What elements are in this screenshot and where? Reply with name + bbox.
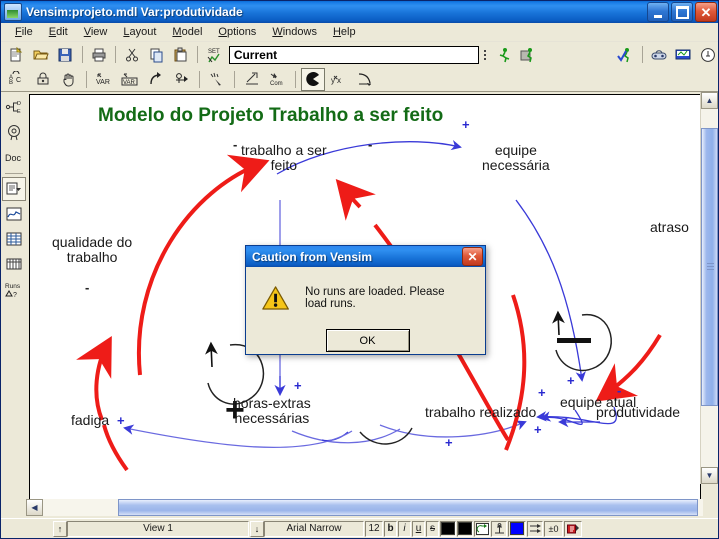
variable-icon[interactable]: VAR bbox=[92, 68, 116, 91]
view-down-button[interactable]: ↓ bbox=[250, 521, 264, 537]
main-toolbar: SET Current bbox=[1, 42, 719, 67]
node-fadiga[interactable]: fadiga bbox=[71, 413, 109, 428]
chevron-down-icon: ▼ bbox=[706, 471, 714, 480]
menu-windows[interactable]: Windows bbox=[264, 24, 325, 40]
svg-text:VAR: VAR bbox=[123, 80, 136, 86]
fill-color-swatch[interactable] bbox=[457, 521, 473, 537]
causes-strip-icon[interactable] bbox=[2, 177, 26, 201]
loops-icon[interactable] bbox=[2, 120, 26, 144]
menu-help[interactable]: Help bbox=[325, 24, 364, 40]
dialog-title: Caution from Vensim bbox=[252, 250, 372, 264]
input-output-icon[interactable] bbox=[240, 68, 264, 91]
polarity-minus-qualidade: - bbox=[85, 280, 89, 295]
polarity-plus-equipe-necessaria: + bbox=[462, 117, 470, 132]
menu-model[interactable]: Model bbox=[164, 24, 210, 40]
caution-dialog: Caution from Vensim ✕ No runs are loaded… bbox=[245, 245, 486, 355]
bold-button[interactable]: b bbox=[384, 521, 397, 537]
lock-text-icon[interactable]: A B C bbox=[5, 68, 29, 91]
toolbar-grip bbox=[483, 50, 488, 60]
arrow-icon[interactable] bbox=[144, 68, 168, 91]
status-bar: ↑ View 1 ↓ Arial Narrow 12 b i u s bbox=[1, 518, 719, 538]
svg-text:x: x bbox=[337, 76, 341, 85]
font-size-field[interactable]: 12 bbox=[365, 521, 383, 537]
polarity-plus-fadiga: + bbox=[117, 413, 125, 428]
node-produtividade[interactable]: produtividade bbox=[596, 405, 680, 420]
chevron-left-icon: ◀ bbox=[31, 503, 37, 512]
menu-bar: File Edit View Layout Model Options Wind… bbox=[1, 23, 719, 42]
table-time-down-icon[interactable] bbox=[2, 252, 26, 276]
comment-icon[interactable]: Com bbox=[266, 68, 290, 91]
reference-mode-icon[interactable] bbox=[353, 68, 377, 91]
text-color-swatch[interactable] bbox=[440, 521, 456, 537]
vertical-scrollbar[interactable]: ▲ ▼ bbox=[700, 92, 718, 484]
line-color-swatch[interactable] bbox=[508, 521, 526, 537]
toolbar-separator bbox=[642, 46, 643, 63]
close-icon: ✕ bbox=[467, 250, 477, 264]
info-icon[interactable] bbox=[697, 43, 719, 66]
copy-icon[interactable] bbox=[145, 43, 168, 66]
toolbar-separator bbox=[234, 71, 235, 88]
svg-text:Doc: Doc bbox=[5, 153, 22, 163]
horizontal-scrollbar[interactable]: ◀ bbox=[26, 499, 703, 516]
save-model-icon[interactable] bbox=[54, 43, 77, 66]
window-title-bar: Vensim:projeto.mdl Var:produtividade ✕ bbox=[1, 1, 719, 23]
toolbar-separator bbox=[199, 71, 200, 88]
move-hand-icon[interactable] bbox=[57, 68, 81, 91]
polarity-plus-trabalho-realizado-bottom: + bbox=[445, 435, 453, 450]
format-painter-glyph bbox=[567, 523, 580, 535]
node-trabalho-a-ser-feito[interactable]: trabalho a ser feito bbox=[241, 143, 327, 173]
shape-icon[interactable] bbox=[474, 521, 490, 537]
window-controls: ✕ bbox=[647, 2, 719, 22]
toolbar-separator bbox=[82, 46, 83, 63]
dialog-ok-button[interactable]: OK bbox=[326, 329, 410, 352]
polarity-plus-produtividade: + bbox=[534, 422, 542, 437]
analysis-tool-strip: D E Doc bbox=[1, 92, 26, 501]
node-qualidade-do-trabalho[interactable]: qualidade do trabalho bbox=[52, 235, 132, 265]
chevron-up-icon: ▲ bbox=[706, 96, 714, 105]
run-name-value: Current bbox=[234, 48, 277, 62]
simulate-icon[interactable] bbox=[493, 43, 516, 66]
simulate-setup-icon[interactable] bbox=[517, 43, 540, 66]
causes-tree-icon[interactable]: D E bbox=[2, 95, 26, 119]
sketch-toolbar: A B C VAR bbox=[1, 67, 719, 92]
game-icon[interactable] bbox=[648, 43, 671, 66]
delete-icon[interactable] bbox=[301, 68, 325, 91]
dialog-close-button[interactable]: ✕ bbox=[462, 247, 483, 266]
arrow-offset-field[interactable]: ±0 bbox=[544, 521, 563, 537]
node-atraso[interactable]: atraso bbox=[650, 220, 689, 235]
dialog-ok-label: OK bbox=[360, 335, 376, 347]
svg-text:D: D bbox=[17, 101, 21, 107]
tool-strip-separator bbox=[5, 173, 23, 174]
dialog-message: No runs are loaded. Please load runs. bbox=[305, 286, 469, 310]
toolbar-separator bbox=[115, 46, 116, 63]
dialog-title-bar: Caution from Vensim ✕ bbox=[246, 246, 485, 267]
view-label[interactable]: View 1 bbox=[67, 521, 249, 537]
reality-check-icon[interactable] bbox=[614, 43, 637, 66]
sketch-canvas-area: + Modelo do Projeto Trabalho a ser feito… bbox=[26, 92, 719, 501]
lock-icon[interactable] bbox=[31, 68, 55, 91]
italic-button[interactable]: i bbox=[398, 521, 411, 537]
scroll-down-button[interactable]: ▼ bbox=[701, 467, 718, 484]
run-name-input[interactable]: Current bbox=[229, 46, 479, 64]
anchor-icon[interactable] bbox=[491, 521, 507, 537]
polarity-minus-trabalho-right: - bbox=[368, 137, 372, 152]
print-icon[interactable] bbox=[87, 43, 110, 66]
menu-edit[interactable]: Edit bbox=[41, 24, 76, 40]
node-equipe-necessaria[interactable]: equipe necessária bbox=[482, 143, 550, 173]
scroll-left-button[interactable]: ◀ bbox=[26, 499, 43, 516]
close-icon: ✕ bbox=[701, 6, 712, 19]
toolbar-separator bbox=[197, 46, 198, 63]
polarity-minus-trabalho-left: - bbox=[233, 137, 237, 152]
runs-compare-icon[interactable]: Runs ? bbox=[2, 277, 26, 301]
anchor-glyph bbox=[493, 523, 506, 535]
color-swatch bbox=[441, 522, 455, 535]
window-title: Vensim:projeto.mdl Var:produtividade bbox=[26, 5, 243, 19]
color-swatch bbox=[458, 522, 472, 535]
strikethrough-button[interactable]: s bbox=[426, 521, 439, 537]
node-horas-extras-necessarias[interactable]: horas-extras necessárias bbox=[233, 396, 311, 426]
dialog-body: No runs are loaded. Please load runs. OK bbox=[246, 267, 485, 356]
svg-text:y: y bbox=[331, 76, 335, 85]
polarity-minus-atraso: - bbox=[617, 383, 621, 398]
svg-text:E: E bbox=[17, 109, 21, 115]
equations-icon[interactable]: y x bbox=[327, 68, 351, 91]
svg-text:?: ? bbox=[13, 292, 17, 298]
document-tool-icon[interactable]: Doc bbox=[2, 145, 26, 169]
svg-text:VAR: VAR bbox=[96, 79, 110, 86]
svg-text:Com: Com bbox=[270, 81, 283, 87]
vensim-app-icon bbox=[4, 3, 22, 21]
open-model-icon[interactable] bbox=[30, 43, 53, 66]
menu-file[interactable]: File bbox=[7, 24, 41, 40]
vertical-scroll-thumb[interactable] bbox=[701, 128, 718, 406]
format-painter-icon[interactable] bbox=[564, 521, 582, 537]
menu-view[interactable]: View bbox=[76, 24, 116, 40]
warning-triangle-icon bbox=[262, 283, 289, 313]
paste-icon[interactable] bbox=[170, 43, 193, 66]
polarity-plus-equipe-atual: + bbox=[567, 373, 575, 388]
color-swatch bbox=[510, 522, 524, 535]
menu-layout[interactable]: Layout bbox=[115, 24, 164, 40]
underline-button[interactable]: u bbox=[412, 521, 425, 537]
toolbar-separator bbox=[295, 71, 296, 88]
arrow-icon[interactable] bbox=[527, 521, 543, 537]
box-variable-icon[interactable]: VAR bbox=[118, 68, 142, 91]
menu-options[interactable]: Options bbox=[210, 24, 264, 40]
horizontal-scroll-thumb[interactable] bbox=[118, 499, 698, 516]
scroll-up-button[interactable]: ▲ bbox=[701, 92, 718, 109]
rate-flow-icon[interactable] bbox=[170, 68, 194, 91]
shadow-variable-icon[interactable] bbox=[205, 68, 229, 91]
diagram-title: Modelo do Projeto Trabalho a ser feito bbox=[98, 105, 443, 127]
polarity-plus-trabalho-realizado-left: + bbox=[538, 385, 546, 400]
restore-button[interactable] bbox=[671, 2, 693, 22]
svg-text:B: B bbox=[9, 80, 13, 86]
minimize-button[interactable] bbox=[647, 2, 669, 22]
node-trabalho-realizado[interactable]: trabalho realizado bbox=[425, 405, 536, 420]
output-icon[interactable] bbox=[672, 43, 695, 66]
polarity-plus-horas-extras: + bbox=[294, 378, 302, 393]
loop-marker-balancing bbox=[557, 338, 591, 343]
scroll-thumb-grip bbox=[707, 263, 714, 271]
dialog-message-row: No runs are loaded. Please load runs. bbox=[246, 283, 485, 313]
graph-icon[interactable] bbox=[2, 202, 26, 226]
toolbar-separator bbox=[86, 71, 87, 88]
shape-glyph bbox=[476, 523, 489, 535]
sketch-canvas[interactable]: + Modelo do Projeto Trabalho a ser feito… bbox=[29, 94, 701, 500]
arrow-up-icon: ↑ bbox=[58, 524, 63, 534]
close-button[interactable]: ✕ bbox=[695, 2, 717, 22]
arrow-down-icon: ↓ bbox=[255, 524, 260, 534]
cut-icon[interactable] bbox=[121, 43, 144, 66]
arrow-glyph bbox=[529, 523, 542, 535]
svg-text:Runs: Runs bbox=[5, 283, 21, 290]
vensim-application-window: Vensim:projeto.mdl Var:produtividade ✕ F… bbox=[0, 0, 719, 539]
view-up-button[interactable]: ↑ bbox=[53, 521, 67, 537]
table-icon[interactable] bbox=[2, 227, 26, 251]
set-run-name-icon[interactable]: SET bbox=[203, 43, 226, 66]
svg-text:C: C bbox=[16, 77, 21, 84]
font-name-field[interactable]: Arial Narrow bbox=[264, 521, 364, 537]
new-model-icon[interactable] bbox=[5, 43, 28, 66]
